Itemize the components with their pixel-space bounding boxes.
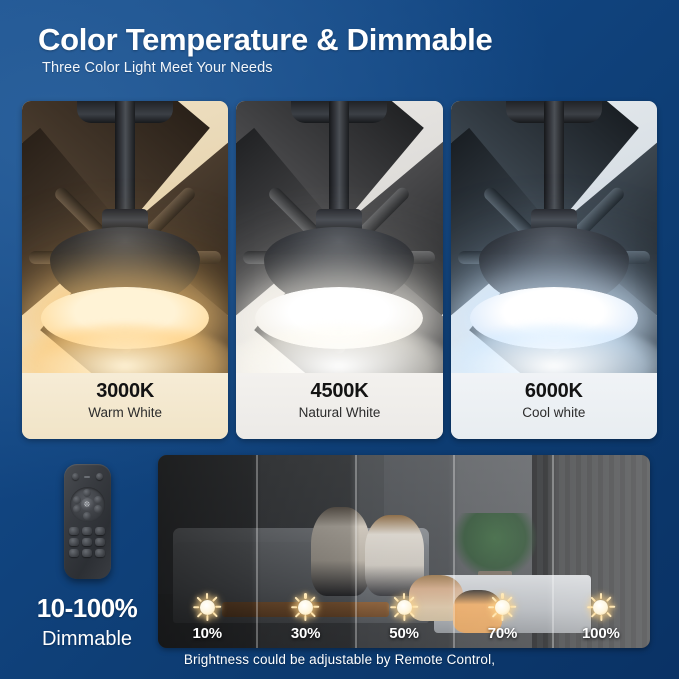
brightness-step: 100%: [552, 576, 650, 648]
kelvin-value: 6000K: [451, 380, 657, 403]
color-temperature-card: 3000K Warm White: [22, 101, 228, 439]
color-temperature-row: 3000K Warm White: [22, 101, 657, 439]
ceiling-fan-image: [451, 101, 657, 373]
kelvin-name: Cool white: [451, 403, 657, 423]
sun-icon: [487, 592, 517, 622]
dimming-word-label: Dimmable: [22, 624, 152, 654]
remote-function-button: [95, 538, 105, 546]
brightness-percent: 30%: [291, 625, 320, 642]
remote-function-button: [69, 538, 79, 546]
remote-dial-button: [94, 496, 102, 504]
bottom-caption: Brightness could be adjustable by Remote…: [0, 652, 679, 667]
remote-dial-button: [83, 489, 91, 497]
kelvin-value: 4500K: [236, 380, 442, 403]
dimming-info-block: ❊ 10-100% Dimmable: [22, 452, 152, 652]
kelvin-name: Warm White: [22, 403, 228, 423]
remote-dial-button: [73, 505, 81, 513]
brightness-percent: 10%: [192, 625, 221, 642]
color-temperature-caption: 4500K Natural White: [236, 373, 442, 439]
infographic-poster: Color Temperature & Dimmable Three Color…: [0, 0, 679, 679]
sun-icon: [389, 592, 419, 622]
sun-icon: [291, 592, 321, 622]
ceiling-fan-image: [22, 101, 228, 373]
color-temperature-card: 6000K Cool white: [451, 101, 657, 439]
brightness-percent: 100%: [582, 625, 620, 642]
remote-function-button: [82, 527, 92, 535]
remote-control-icon: ❊: [64, 464, 111, 579]
fan-speed-icon: ❊: [81, 498, 94, 511]
remote-function-button: [82, 549, 92, 557]
remote-power-button: [72, 473, 79, 480]
page-subtitle: Three Color Light Meet Your Needs: [42, 60, 273, 76]
brightness-scene: 10% 30%: [158, 455, 650, 648]
dimming-percent-label: 10-100%: [22, 593, 152, 624]
brightness-step: 30%: [256, 576, 354, 648]
color-temperature-caption: 6000K Cool white: [451, 373, 657, 439]
brightness-percent: 50%: [389, 625, 418, 642]
remote-function-button: [95, 549, 105, 557]
remote-button-grid: [69, 527, 105, 557]
color-temperature-card: 4500K Natural White: [236, 101, 442, 439]
page-title: Color Temperature & Dimmable: [38, 22, 492, 58]
remote-dial-button: [73, 496, 81, 504]
brightness-steps: 10% 30%: [158, 576, 650, 648]
brightness-step: 10%: [158, 576, 256, 648]
ceiling-fan-image: [236, 101, 442, 373]
brightness-step: 70%: [453, 576, 551, 648]
kelvin-value: 3000K: [22, 380, 228, 403]
kelvin-name: Natural White: [236, 403, 442, 423]
header: Color Temperature & Dimmable Three Color…: [0, 0, 679, 98]
remote-dial: ❊: [70, 487, 105, 522]
remote-dash-button: [84, 476, 90, 478]
remote-function-button: [95, 527, 105, 535]
color-temperature-caption: 3000K Warm White: [22, 373, 228, 439]
remote-dial-button: [94, 505, 102, 513]
remote-function-button: [69, 549, 79, 557]
sun-icon: [586, 592, 616, 622]
remote-function-button: [69, 527, 79, 535]
remote-function-button: [82, 538, 92, 546]
sun-icon: [192, 592, 222, 622]
remote-timer-button: [96, 473, 103, 480]
brightness-step: 50%: [355, 576, 453, 648]
remote-dial-button: [83, 512, 91, 520]
brightness-percent: 70%: [488, 625, 517, 642]
